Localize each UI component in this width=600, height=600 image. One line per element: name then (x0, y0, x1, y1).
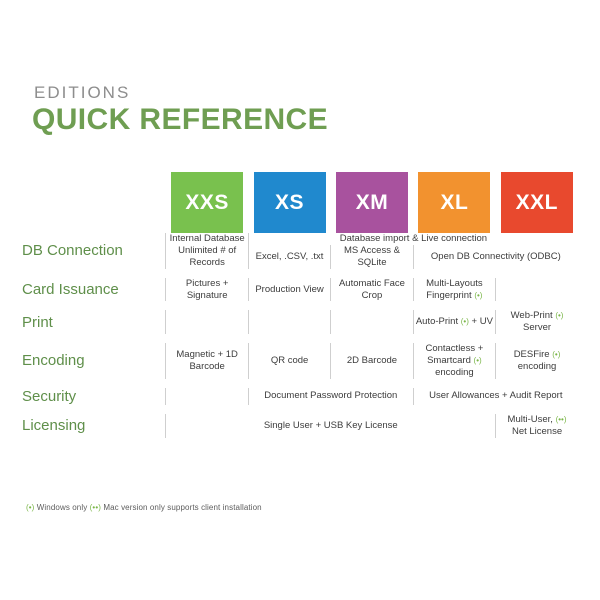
cell-ci-production-view: Production View (248, 278, 330, 302)
row-spacer-4 (22, 379, 578, 388)
print-auto-print-text: Auto-Print (416, 316, 458, 327)
cell-enc-desfire-encoding: DESFire (•) encoding (496, 343, 578, 379)
page-title: QUICK REFERENCE (32, 105, 328, 135)
cell-db-import-live-connection: Database import & Live connection (248, 233, 578, 245)
footnote-marker-double-icon: (••) (90, 503, 101, 512)
cell-db-odbc: Open DB Connectivity (ODBC) (413, 245, 578, 269)
enc-encoding-text: encoding (435, 367, 474, 378)
windows-only-marker-icon: (•) (461, 317, 469, 326)
edition-badge-cell-xl[interactable]: XL (413, 172, 495, 233)
cell-ci-xxl-empty (496, 278, 578, 302)
ci-multi-layouts-text: Multi-Layouts (426, 278, 483, 289)
row-label-print: Print (22, 310, 166, 334)
cell-sec-document-password-protection: Document Password Protection (248, 388, 413, 405)
cell-db-unlimited-records: Unlimited # of Records (166, 245, 248, 269)
cell-sec-user-allowances-audit-report: User Allowances + Audit Report (413, 388, 578, 405)
cell-ci-automatic-face-crop: Automatic Face Crop (331, 278, 413, 302)
windows-only-marker-icon: (•) (474, 291, 482, 300)
edition-badge-cell-xxl[interactable]: XXL (496, 172, 578, 233)
edition-badge-cell-xxs[interactable]: XXS (166, 172, 248, 233)
badge-xxl[interactable]: XXL (501, 172, 573, 233)
row-licensing: Licensing Single User + USB Key License … (22, 414, 578, 438)
heading-kicker: EDITIONS (34, 84, 328, 101)
page-heading: EDITIONS QUICK REFERENCE (32, 84, 328, 135)
mac-client-marker-icon: (••) (556, 415, 567, 424)
cell-lic-multi-user-net-license: Multi-User, (••) Net License (496, 414, 578, 438)
print-uv-text: + UV (472, 316, 493, 327)
badge-xs[interactable]: XS (254, 172, 326, 233)
row-spacer-1 (22, 269, 578, 278)
windows-only-marker-icon: (•) (474, 356, 482, 365)
row-label-card-issuance: Card Issuance (22, 278, 166, 302)
enc-desfire-encoding-text: encoding (518, 361, 557, 372)
cell-enc-contactless-smartcard: Contactless + Smartcard (•) encoding (413, 343, 495, 379)
cell-sec-xxs-empty (166, 388, 248, 405)
windows-only-marker-icon: (•) (552, 350, 560, 359)
print-server-text: Server (523, 322, 551, 333)
lic-net-license-text: Net License (512, 426, 562, 437)
footnote: (•) Windows only (••) Mac version only s… (26, 503, 262, 512)
windows-only-marker-icon: (•) (555, 311, 563, 320)
cell-enc-magnetic-1d-barcode: Magnetic + 1D Barcode (166, 343, 248, 379)
row-label-db-connection: DB Connection (22, 233, 166, 269)
row-security: Security Document Password Protection Us… (22, 388, 578, 405)
edition-badge-cell-xs[interactable]: XS (248, 172, 330, 233)
row-db-connection-a: DB Connection Internal Database Database… (22, 233, 578, 245)
footnote-marker-single-icon: (•) (26, 503, 34, 512)
cell-ci-multi-layouts-fingerprint: Multi-Layouts Fingerprint (•) (413, 278, 495, 302)
row-label-security: Security (22, 388, 166, 405)
row-spacer-2 (22, 301, 578, 310)
comparison-table: XXS XS XM XL XXL DB Connection Internal … (22, 172, 578, 438)
row-label-licensing: Licensing (22, 414, 166, 438)
cell-db-internal-database: Internal Database (166, 233, 248, 245)
lic-multi-user-text: Multi-User, (508, 414, 553, 425)
cell-db-excel-csv-txt: Excel, .CSV, .txt (248, 245, 330, 269)
cell-enc-qr-code: QR code (248, 343, 330, 379)
cell-print-xm-empty (331, 310, 413, 334)
row-print: Print Auto-Print (•) + UV Web-Print (•) … (22, 310, 578, 334)
cell-lic-single-user-usb-key: Single User + USB Key License (166, 414, 496, 438)
row-spacer-5 (22, 405, 578, 414)
cell-db-ms-access-sqlite: MS Access & SQLite (331, 245, 413, 269)
row-encoding: Encoding Magnetic + 1D Barcode QR code 2… (22, 343, 578, 379)
badge-xl[interactable]: XL (418, 172, 490, 233)
cell-enc-2d-barcode: 2D Barcode (331, 343, 413, 379)
cell-print-web-print-server: Web-Print (•) Server (496, 310, 578, 334)
footnote-text-single: Windows only (37, 503, 88, 512)
editions-comparison-matrix: XXS XS XM XL XXL DB Connection Internal … (22, 172, 578, 438)
badge-xm[interactable]: XM (336, 172, 408, 233)
row-spacer-3 (22, 334, 578, 343)
edition-badge-cell-xm[interactable]: XM (331, 172, 413, 233)
print-web-print-text: Web-Print (511, 310, 553, 321)
cell-print-auto-print-uv: Auto-Print (•) + UV (413, 310, 495, 334)
ci-fingerprint-text: Fingerprint (426, 290, 471, 301)
badge-row-spacer (22, 172, 166, 233)
cell-ci-pictures-signature: Pictures + Signature (166, 278, 248, 302)
footnote-text-double: Mac version only supports client install… (103, 503, 261, 512)
enc-desfire-text: DESFire (514, 349, 550, 360)
edition-badges-row: XXS XS XM XL XXL (22, 172, 578, 233)
badge-xxs[interactable]: XXS (171, 172, 243, 233)
row-label-encoding: Encoding (22, 343, 166, 379)
cell-print-xs-empty (248, 310, 330, 334)
row-card-issuance: Card Issuance Pictures + Signature Produ… (22, 278, 578, 302)
cell-print-xxs-empty (166, 310, 248, 334)
